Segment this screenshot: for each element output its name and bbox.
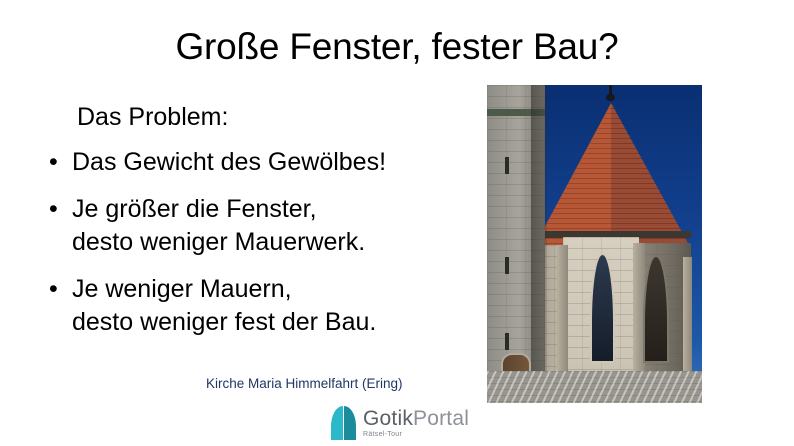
list-item-line: desto weniger Mauerwerk. xyxy=(72,226,484,259)
list-item-line: Je weniger Mauern, xyxy=(72,273,484,306)
logo-word-part-2: Portal xyxy=(413,407,469,430)
image-caption: Kirche Maria Himmelfahrt (Ering) xyxy=(206,375,403,393)
list-item: • Das Gewicht des Gewölbes! xyxy=(44,146,484,179)
body-text-block: Das Problem: • Das Gewicht des Gewölbes!… xyxy=(44,100,484,353)
arch-half-left xyxy=(331,406,343,440)
spire-roof xyxy=(535,93,689,245)
logo-tagline: Rätsel-Tour xyxy=(363,431,469,438)
gothic-portal-arch-icon xyxy=(331,406,356,440)
lead-line: Das Problem: xyxy=(77,100,484,134)
tower-shadow xyxy=(531,85,547,403)
list-item-line: desto weniger fest der Bau. xyxy=(72,306,484,339)
tower-window-slit xyxy=(505,257,509,274)
logo-word: GotikPortal xyxy=(363,408,469,429)
bullet-icon: • xyxy=(49,146,58,179)
logo-word-part-1: Gotik xyxy=(363,407,413,430)
list-item-line: Je größer die Fenster, xyxy=(72,193,484,226)
gothic-church-apse-photo xyxy=(487,85,702,403)
cobblestone-ground xyxy=(487,371,702,403)
bullet-icon: • xyxy=(49,273,58,306)
tower-window-slit xyxy=(505,333,509,350)
list-item-line: Das Gewicht des Gewölbes! xyxy=(72,146,484,179)
arch-half-right xyxy=(344,406,356,440)
gotikportal-logo[interactable]: GotikPortal Rätsel-Tour xyxy=(331,404,471,442)
logo-wordmark: GotikPortal Rätsel-Tour xyxy=(363,408,469,438)
page-title: Große Fenster, fester Bau? xyxy=(0,24,794,70)
finial-ball-icon xyxy=(606,94,615,101)
tower-window-slit xyxy=(505,157,509,174)
bullet-icon: • xyxy=(49,193,58,226)
list-item: • Je größer die Fenster, desto weniger M… xyxy=(44,193,484,259)
presentation-slide: Große Fenster, fester Bau? Das Problem: … xyxy=(0,0,794,446)
list-item: • Je weniger Mauern, desto weniger fest … xyxy=(44,273,484,339)
